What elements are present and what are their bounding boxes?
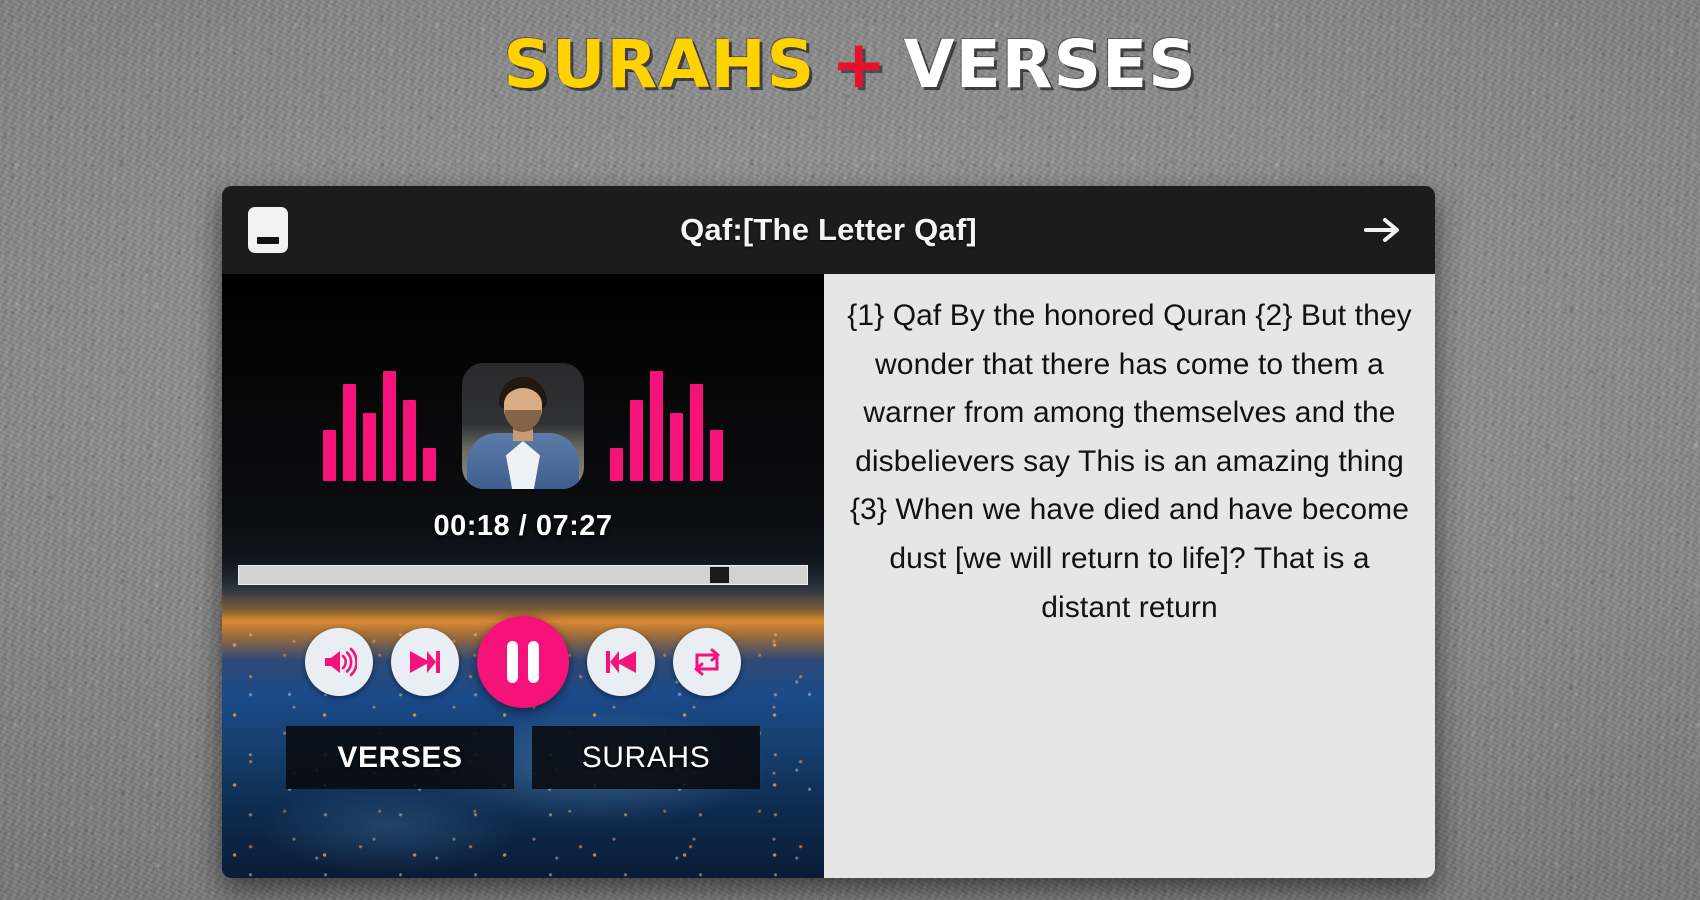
tab-bar: VERSES SURAHS [222,726,824,789]
minimize-button[interactable] [248,207,288,253]
app-window: Qaf:[The Letter Qaf] [222,186,1435,878]
tab-surahs[interactable]: SURAHS [532,726,760,789]
next-icon [407,648,443,676]
previous-icon [603,648,639,676]
title-bar: Qaf:[The Letter Qaf] [222,186,1435,274]
pause-button[interactable] [477,616,569,708]
repeat-button[interactable] [673,628,741,696]
arrow-right-icon [1363,215,1403,245]
banner-word-surahs: SURAHS [503,26,815,103]
card-body: 00:18 / 07:27 [222,274,1435,878]
banner-word-verses: VERSES [903,26,1196,103]
volume-button[interactable] [305,628,373,696]
next-button[interactable] [391,628,459,696]
banner-headline: SURAHS+VERSES [0,26,1700,103]
player-pane: 00:18 / 07:27 [222,274,824,878]
time-display: 00:18 / 07:27 [222,510,824,543]
equalizer-right [610,371,723,481]
banner-plus-symbol: + [831,26,887,103]
pause-icon [507,641,539,683]
verses-pane[interactable]: {1} Qaf By the honored Quran {2} But the… [824,274,1435,878]
previous-button[interactable] [587,628,655,696]
repeat-icon [689,647,725,677]
player-controls [222,616,824,708]
album-art [462,363,584,489]
forward-button[interactable] [1357,204,1409,256]
progress-slider[interactable] [238,565,808,585]
artwork-row [222,356,824,496]
progress-thumb[interactable] [710,567,729,583]
tab-verses[interactable]: VERSES [286,726,514,789]
equalizer-left [323,371,436,481]
minimize-icon [257,237,279,244]
page-title: Qaf:[The Letter Qaf] [222,212,1435,248]
volume-icon [321,647,357,677]
verses-text: {1} Qaf By the honored Quran {2} But the… [846,292,1413,632]
